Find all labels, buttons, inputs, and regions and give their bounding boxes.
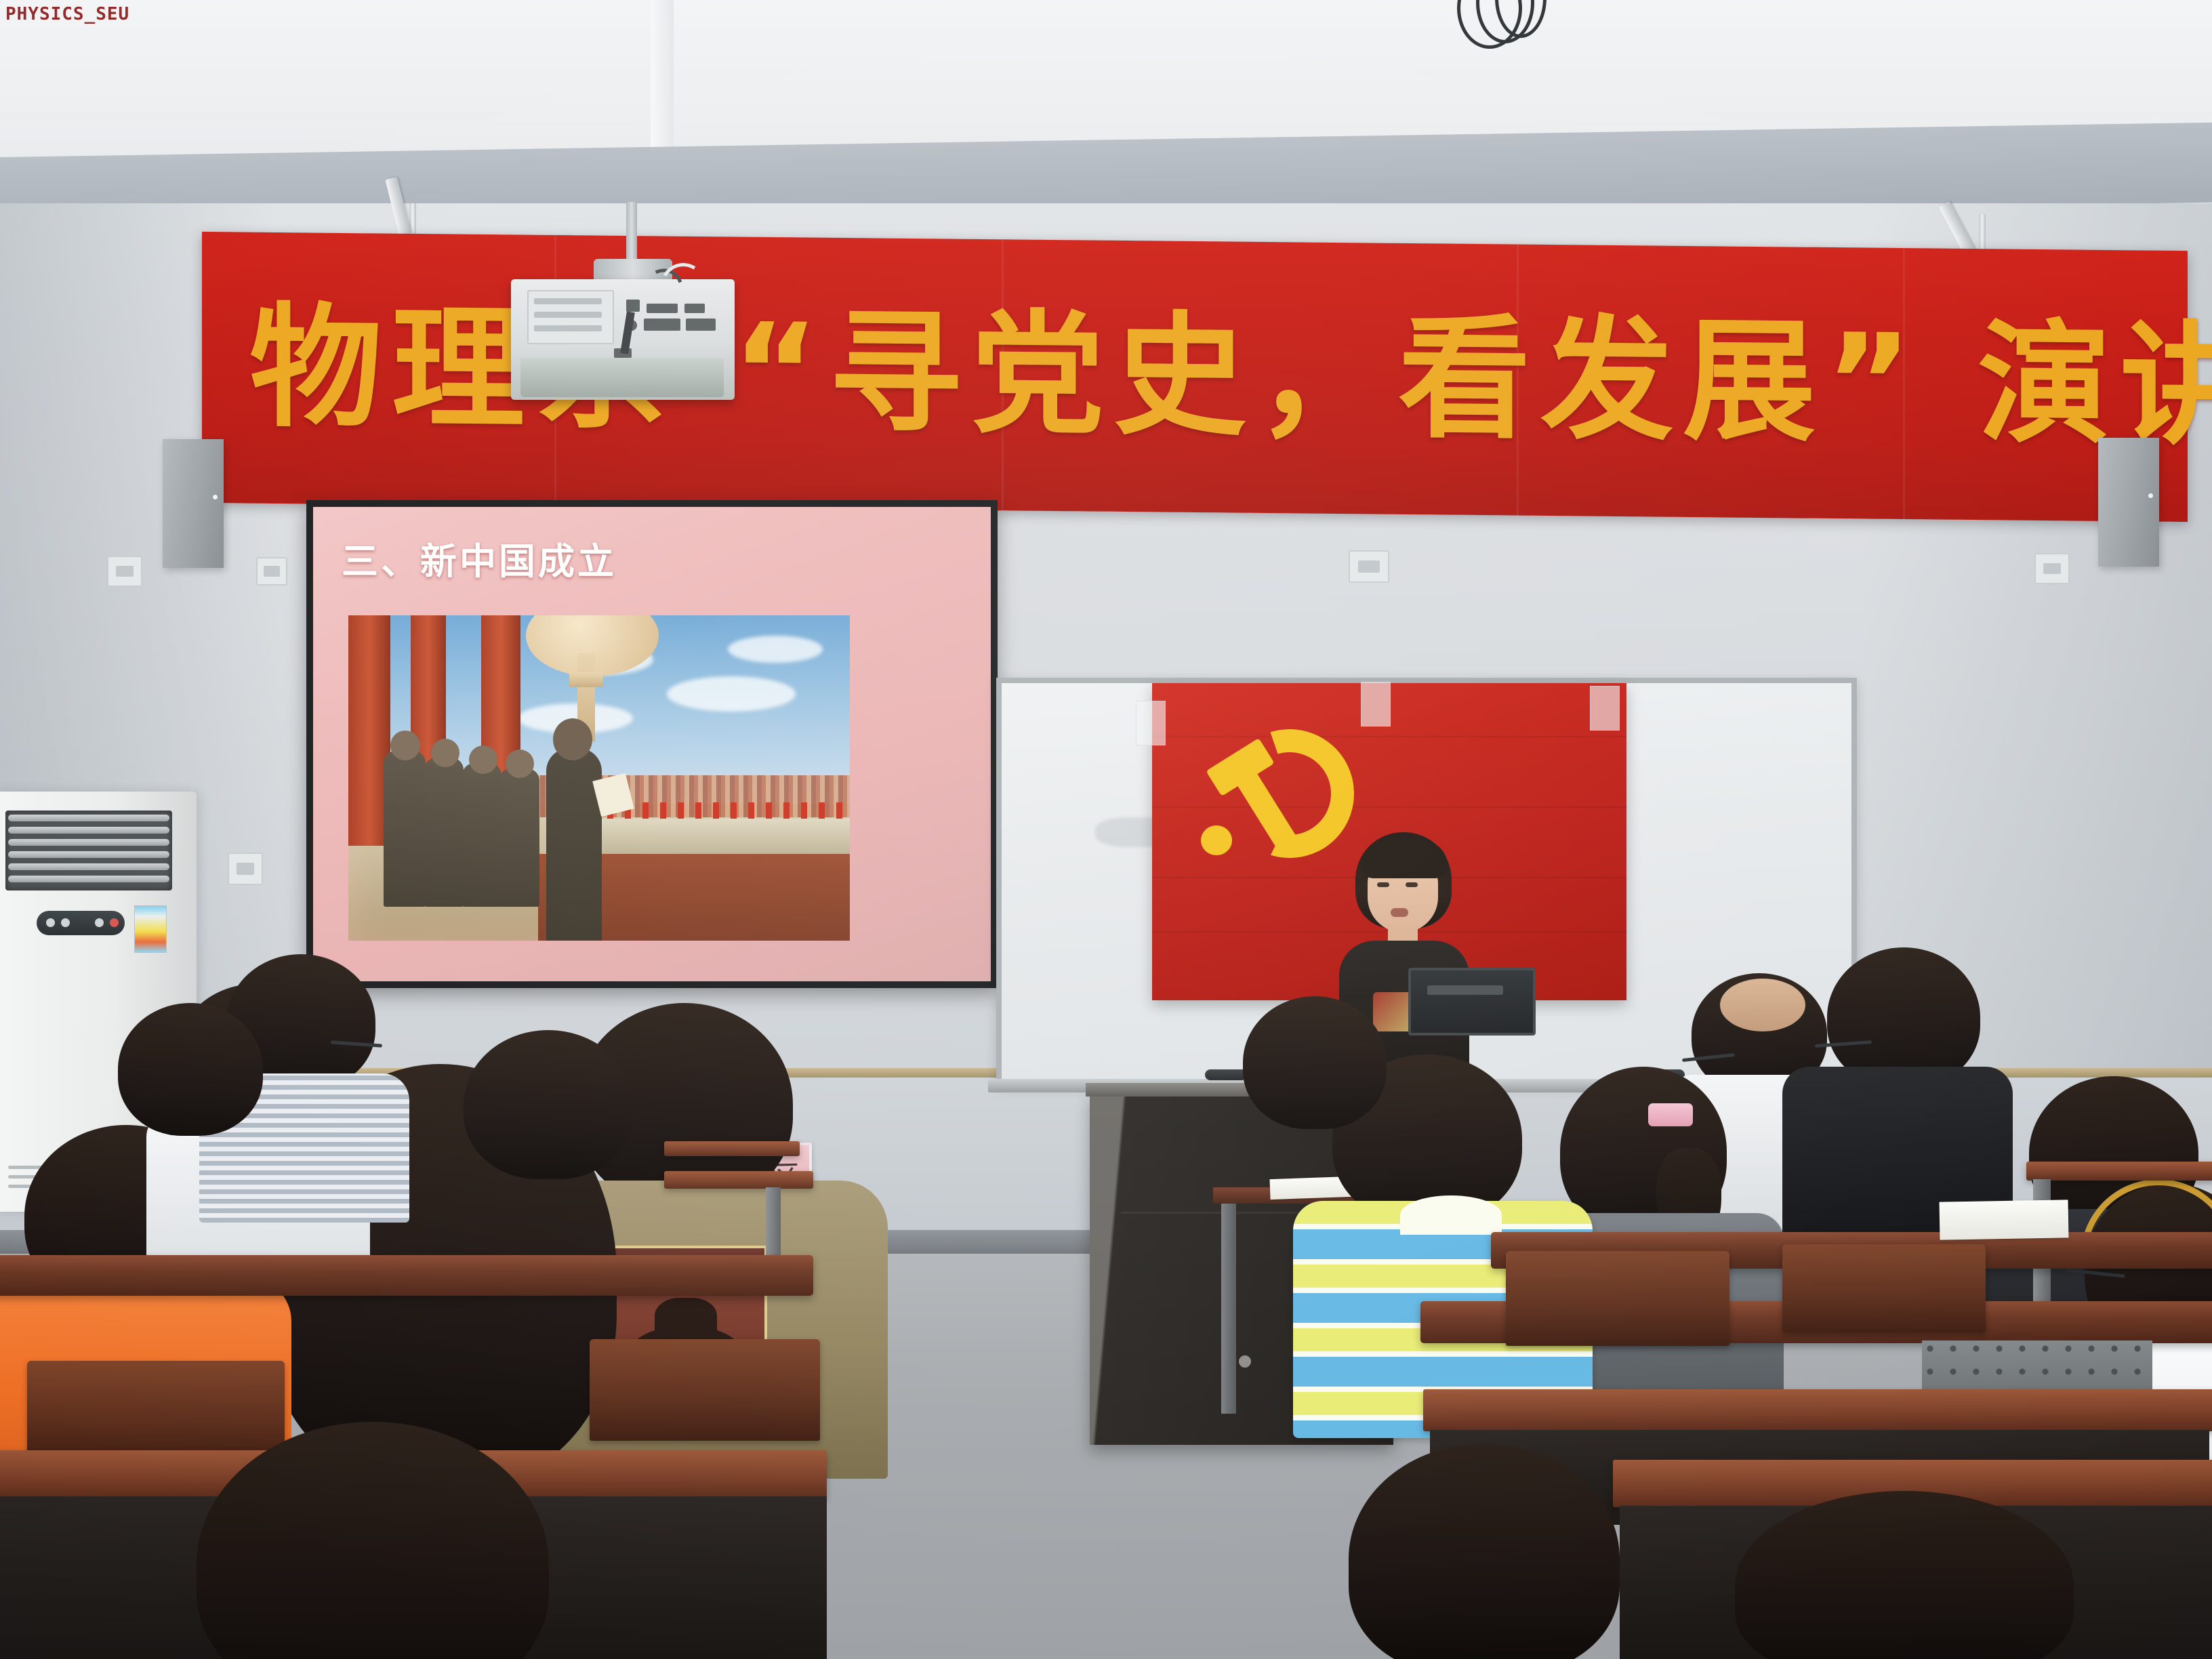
- projector-label-panel: [527, 290, 614, 344]
- hair-clip: [1648, 1103, 1693, 1126]
- ac-energy-label: [134, 905, 167, 953]
- audience-black-shirt-student: [1803, 947, 2006, 1205]
- slide-title: 三、新中国成立: [342, 531, 617, 585]
- presenter-eye: [1406, 882, 1418, 887]
- audience-foreground-student: [1349, 1443, 1633, 1659]
- student-desk: [664, 1171, 813, 1189]
- wall-speaker-left: [163, 439, 224, 568]
- event-banner: 物理系 “寻党史，看发展” 演讲比赛: [202, 232, 2188, 522]
- bench-desk-left-mid: [0, 1255, 813, 1296]
- projection-screen-surface: 三、新中国成立: [313, 507, 991, 981]
- banner-title: 物理系 “寻党史，看发展” 演讲比赛: [202, 232, 2188, 522]
- projector-port: [686, 319, 716, 331]
- laptop-vent: [1427, 985, 1503, 995]
- flag-tape: [1361, 682, 1391, 726]
- paper-sheet[interactable]: [1940, 1200, 2069, 1240]
- head: [197, 1422, 549, 1659]
- head: [1243, 996, 1387, 1129]
- student-desk: [664, 1141, 800, 1156]
- audience-foreground-student: [1735, 1491, 2087, 1659]
- wall-speaker-right: [2098, 438, 2159, 567]
- student-desk: [2026, 1162, 2212, 1181]
- chair-back: [590, 1339, 820, 1441]
- watermark: PHYSICS_SEU: [5, 4, 129, 24]
- presenter-eye: [1377, 882, 1389, 887]
- contestant-desk-leg: [1221, 1204, 1236, 1414]
- projection-screen: 三、新中国成立: [306, 500, 998, 988]
- audience-student: [1233, 996, 1403, 1172]
- wall-outlet-plate[interactable]: [1349, 550, 1389, 583]
- chair-back: [1782, 1244, 1986, 1332]
- head: [464, 1030, 633, 1179]
- audience-student: [450, 1030, 640, 1233]
- flag-tape: [1590, 686, 1620, 731]
- wall-outlet-plate[interactable]: [256, 557, 287, 586]
- wall-outlet-plate[interactable]: [228, 853, 263, 885]
- classroom-photo: 物理系 “寻党史，看发展” 演讲比赛 三、新中国成立: [0, 0, 2212, 1659]
- wall-outlet-plate[interactable]: [107, 556, 142, 587]
- chair-back: [1506, 1251, 1729, 1346]
- laptop-lid: [1408, 968, 1536, 1036]
- projector-port: [626, 300, 640, 312]
- presenter-fringe: [1361, 840, 1448, 878]
- flag-tape: [1136, 701, 1166, 745]
- head: [1735, 1491, 2074, 1659]
- projector-port: [644, 319, 680, 331]
- audience-foreground-student: [183, 1422, 562, 1659]
- audience-student: [108, 1003, 271, 1206]
- projector-mount-rod: [626, 202, 637, 264]
- wall-outlet-plate[interactable]: [2034, 553, 2070, 584]
- presenter-laptop[interactable]: [1408, 968, 1544, 1049]
- slide-image: [348, 615, 850, 941]
- podium-knob[interactable]: [1239, 1355, 1251, 1368]
- ac-vent-grille: [5, 811, 172, 890]
- ac-control-panel[interactable]: [37, 911, 125, 935]
- head: [118, 1003, 263, 1136]
- head: [1349, 1443, 1620, 1659]
- shirt-collar: [1400, 1195, 1502, 1235]
- student-desk: [1423, 1389, 2212, 1431]
- presenter-mouth: [1391, 908, 1408, 917]
- bald-scalp: [1720, 979, 1805, 1031]
